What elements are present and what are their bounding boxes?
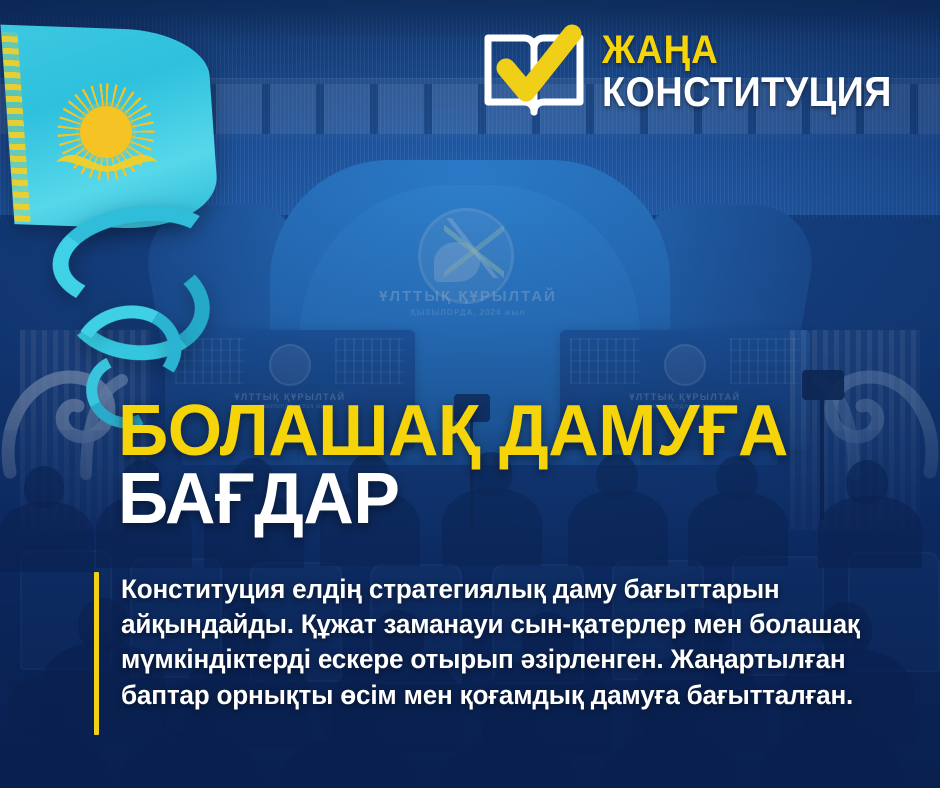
body-paragraph: Конституция елдің стратегиялық даму бағы… <box>121 572 882 735</box>
headline-line-1: БОЛАШАҚ ДАМУҒА <box>118 398 855 464</box>
body-block: Конституция елдің стратегиялық даму бағы… <box>94 572 894 735</box>
poster: ҰЛТТЫҚ ҚҰРЫЛТАЙ ҚЫЗЫЛОРДА, 2024 жыл ҰЛТТ… <box>0 0 940 788</box>
campaign-logo: ЖАҢА КОНСТИТУЦИЯ <box>480 24 924 120</box>
open-book-checkmark-icon <box>480 24 588 120</box>
kazakhstan-flag-icon <box>0 18 244 438</box>
logo-wordmark: ЖАҢА КОНСТИТУЦИЯ <box>602 32 924 111</box>
flag-eagle-icon <box>52 136 162 176</box>
logo-line-1: ЖАҢА <box>602 32 898 69</box>
logo-line-2: КОНСТИТУЦИЯ <box>602 73 892 112</box>
headline-line-2: БАҒДАР <box>118 466 855 532</box>
yellow-accent-bar <box>94 572 99 735</box>
headline: БОЛАШАҚ ДАМУҒА БАҒДАР <box>118 398 878 532</box>
